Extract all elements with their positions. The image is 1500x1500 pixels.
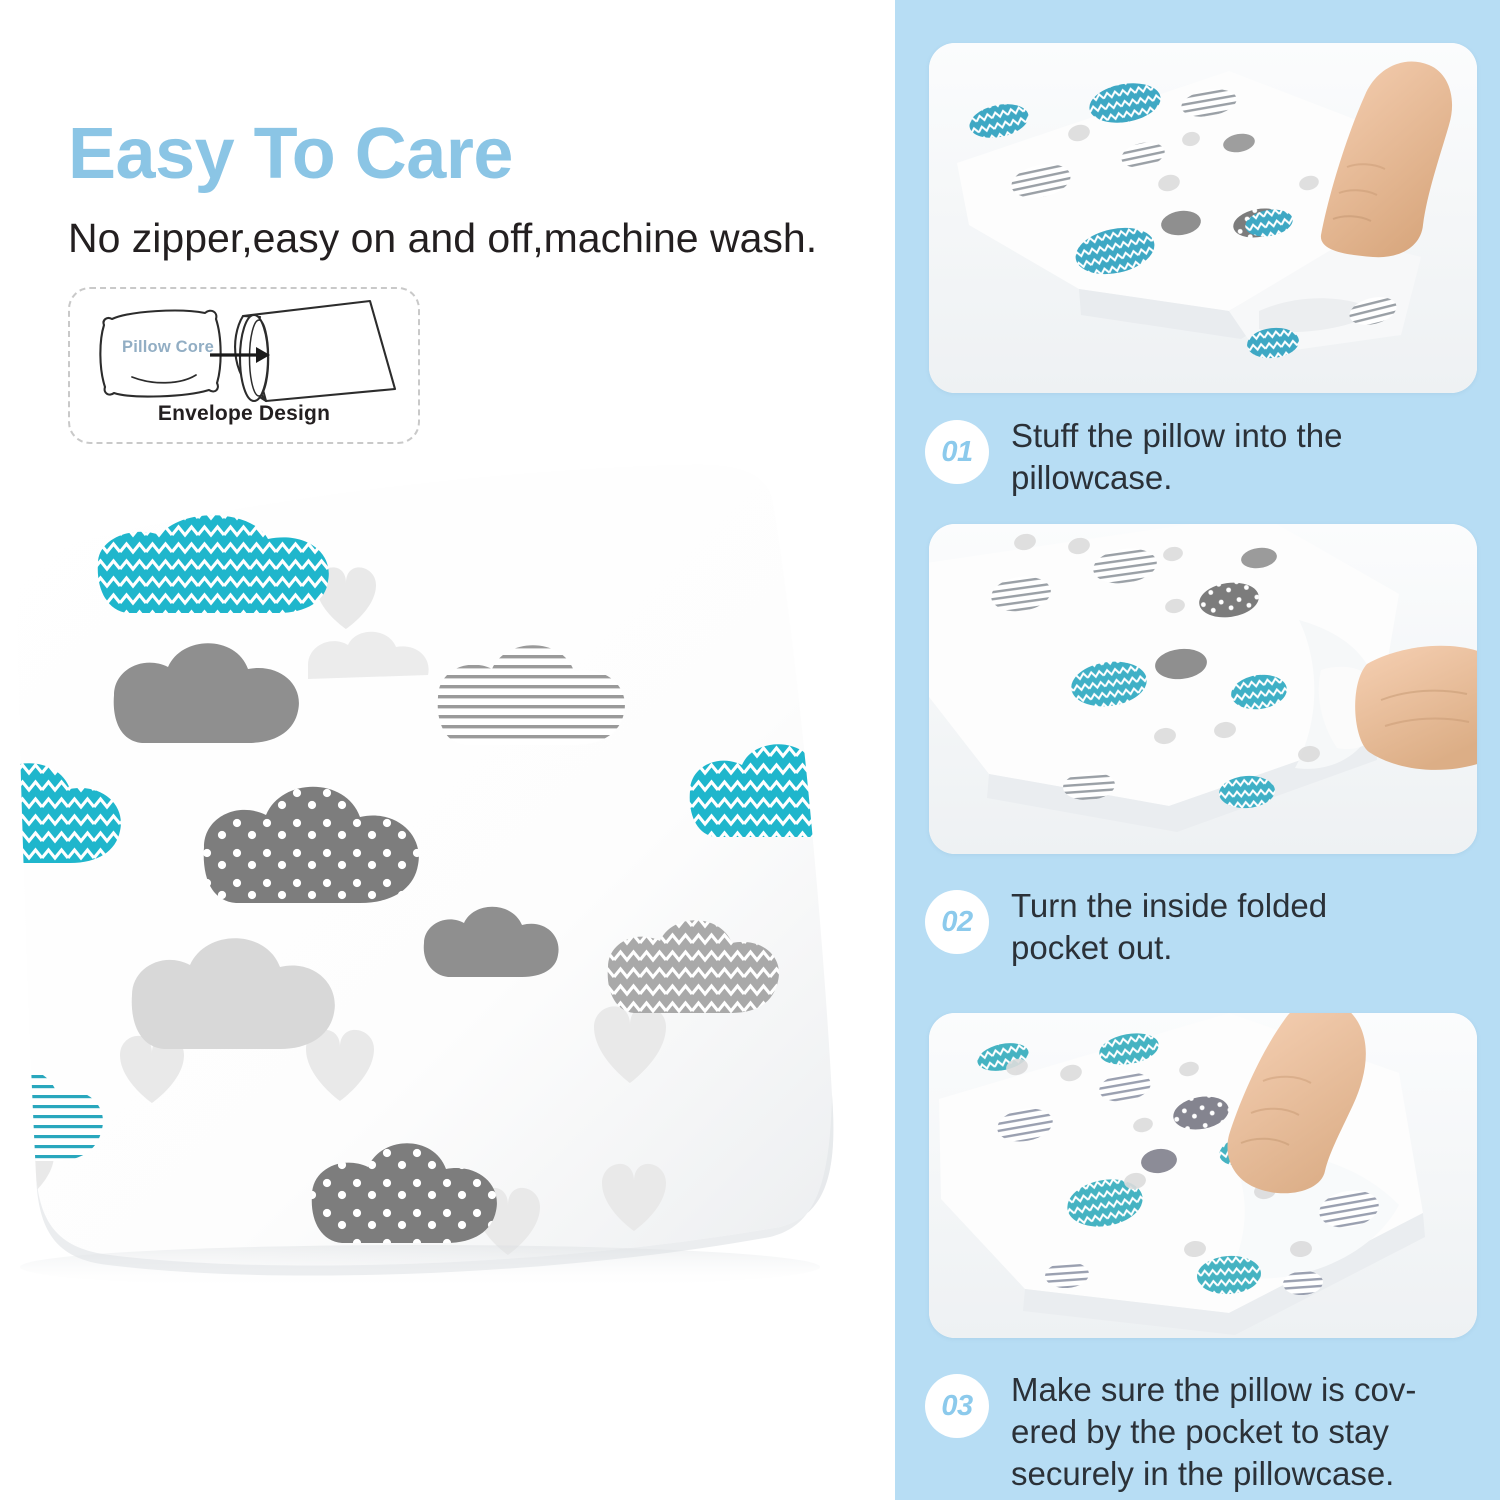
- pillow-ground-shadow: [20, 1245, 820, 1289]
- step-1-number: 01: [925, 420, 989, 484]
- step-3-line-1: Make sure the pillow is cov-: [1011, 1369, 1416, 1411]
- step-1-text: Stuff the pillow into the pillowcase.: [1011, 414, 1342, 499]
- step-photo-3: [929, 1013, 1477, 1338]
- step-1-line-2: pillowcase.: [1011, 457, 1342, 499]
- page-title: Easy To Care: [68, 118, 513, 190]
- step-3: 03 Make sure the pillow is cov- ered by …: [925, 1368, 1485, 1496]
- step-2-line-1: Turn the inside folded: [1011, 885, 1327, 927]
- step-2-line-2: pocket out.: [1011, 927, 1327, 969]
- step-2-number: 02: [925, 890, 989, 954]
- step-2: 02 Turn the inside folded pocket out.: [925, 884, 1485, 969]
- step-3-line-3: securely in the pillowcase.: [1011, 1453, 1416, 1495]
- step-2-text: Turn the inside folded pocket out.: [1011, 884, 1327, 969]
- step-photo-1: [929, 43, 1477, 393]
- step-photo-2: [929, 524, 1477, 854]
- step-1: 01 Stuff the pillow into the pillowcase.: [925, 414, 1485, 499]
- envelope-design-diagram: Pillow Core Envelope Design: [68, 287, 420, 444]
- step-1-line-1: Stuff the pillow into the: [1011, 415, 1342, 457]
- step-3-number: 03: [925, 1374, 989, 1438]
- envelope-design-caption: Envelope Design: [70, 402, 418, 426]
- infographic-page: Easy To Care No zipper,easy on and off,m…: [0, 0, 1500, 1500]
- pillow-core-label: Pillow Core: [122, 338, 214, 357]
- step-3-text: Make sure the pillow is cov- ered by the…: [1011, 1368, 1416, 1496]
- page-subtitle: No zipper,easy on and off,machine wash.: [68, 214, 817, 263]
- right-panel: 01 Stuff the pillow into the pillowcase.: [895, 0, 1500, 1500]
- left-panel: Easy To Care No zipper,easy on and off,m…: [0, 0, 895, 1500]
- step-3-line-2: ered by the pocket to stay: [1011, 1411, 1416, 1453]
- hand: [1355, 646, 1477, 770]
- hero-pillow-image: [0, 455, 895, 1305]
